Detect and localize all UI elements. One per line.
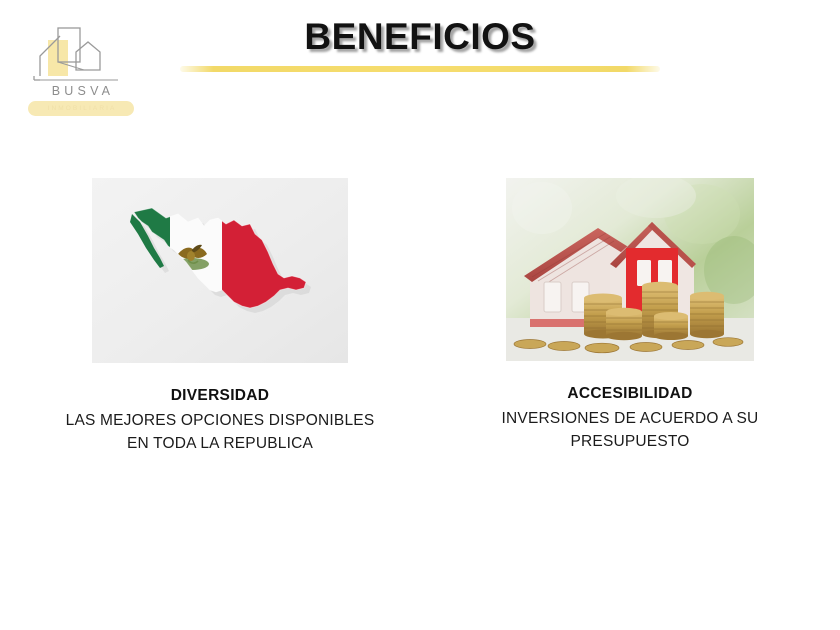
brand-name: BUSVA (26, 84, 136, 98)
benefit-title: ACCESIBILIDAD (440, 383, 820, 405)
benefit-line: LAS MEJORES OPCIONES DISPONIBLES (20, 410, 420, 432)
slide-canvas: BUSVA INMOBILIARIA BENEFICIOS (0, 0, 840, 630)
brand-tagline: INMOBILIARIA (46, 105, 117, 112)
brand-tagline-pill: INMOBILIARIA (28, 101, 134, 116)
benefit-line: PRESUPUESTO (440, 431, 820, 453)
benefit-line: INVERSIONES DE ACUERDO A SU (440, 408, 820, 430)
page-title: BENEFICIOS (0, 16, 840, 58)
house-model-coin-stacks-image (506, 178, 754, 361)
benefit-caption-diversidad: DIVERSIDAD LAS MEJORES OPCIONES DISPONIB… (20, 385, 420, 455)
title-underline-rule (180, 66, 660, 72)
benefit-line: EN TODA LA REPUBLICA (20, 433, 420, 455)
mexico-map-flag-image (92, 178, 348, 363)
benefit-card-accesibilidad: ACCESIBILIDAD INVERSIONES DE ACUERDO A S… (440, 178, 820, 453)
benefit-caption-accesibilidad: ACCESIBILIDAD INVERSIONES DE ACUERDO A S… (440, 383, 820, 453)
benefit-title: DIVERSIDAD (20, 385, 420, 407)
benefit-card-diversidad: DIVERSIDAD LAS MEJORES OPCIONES DISPONIB… (20, 178, 420, 455)
